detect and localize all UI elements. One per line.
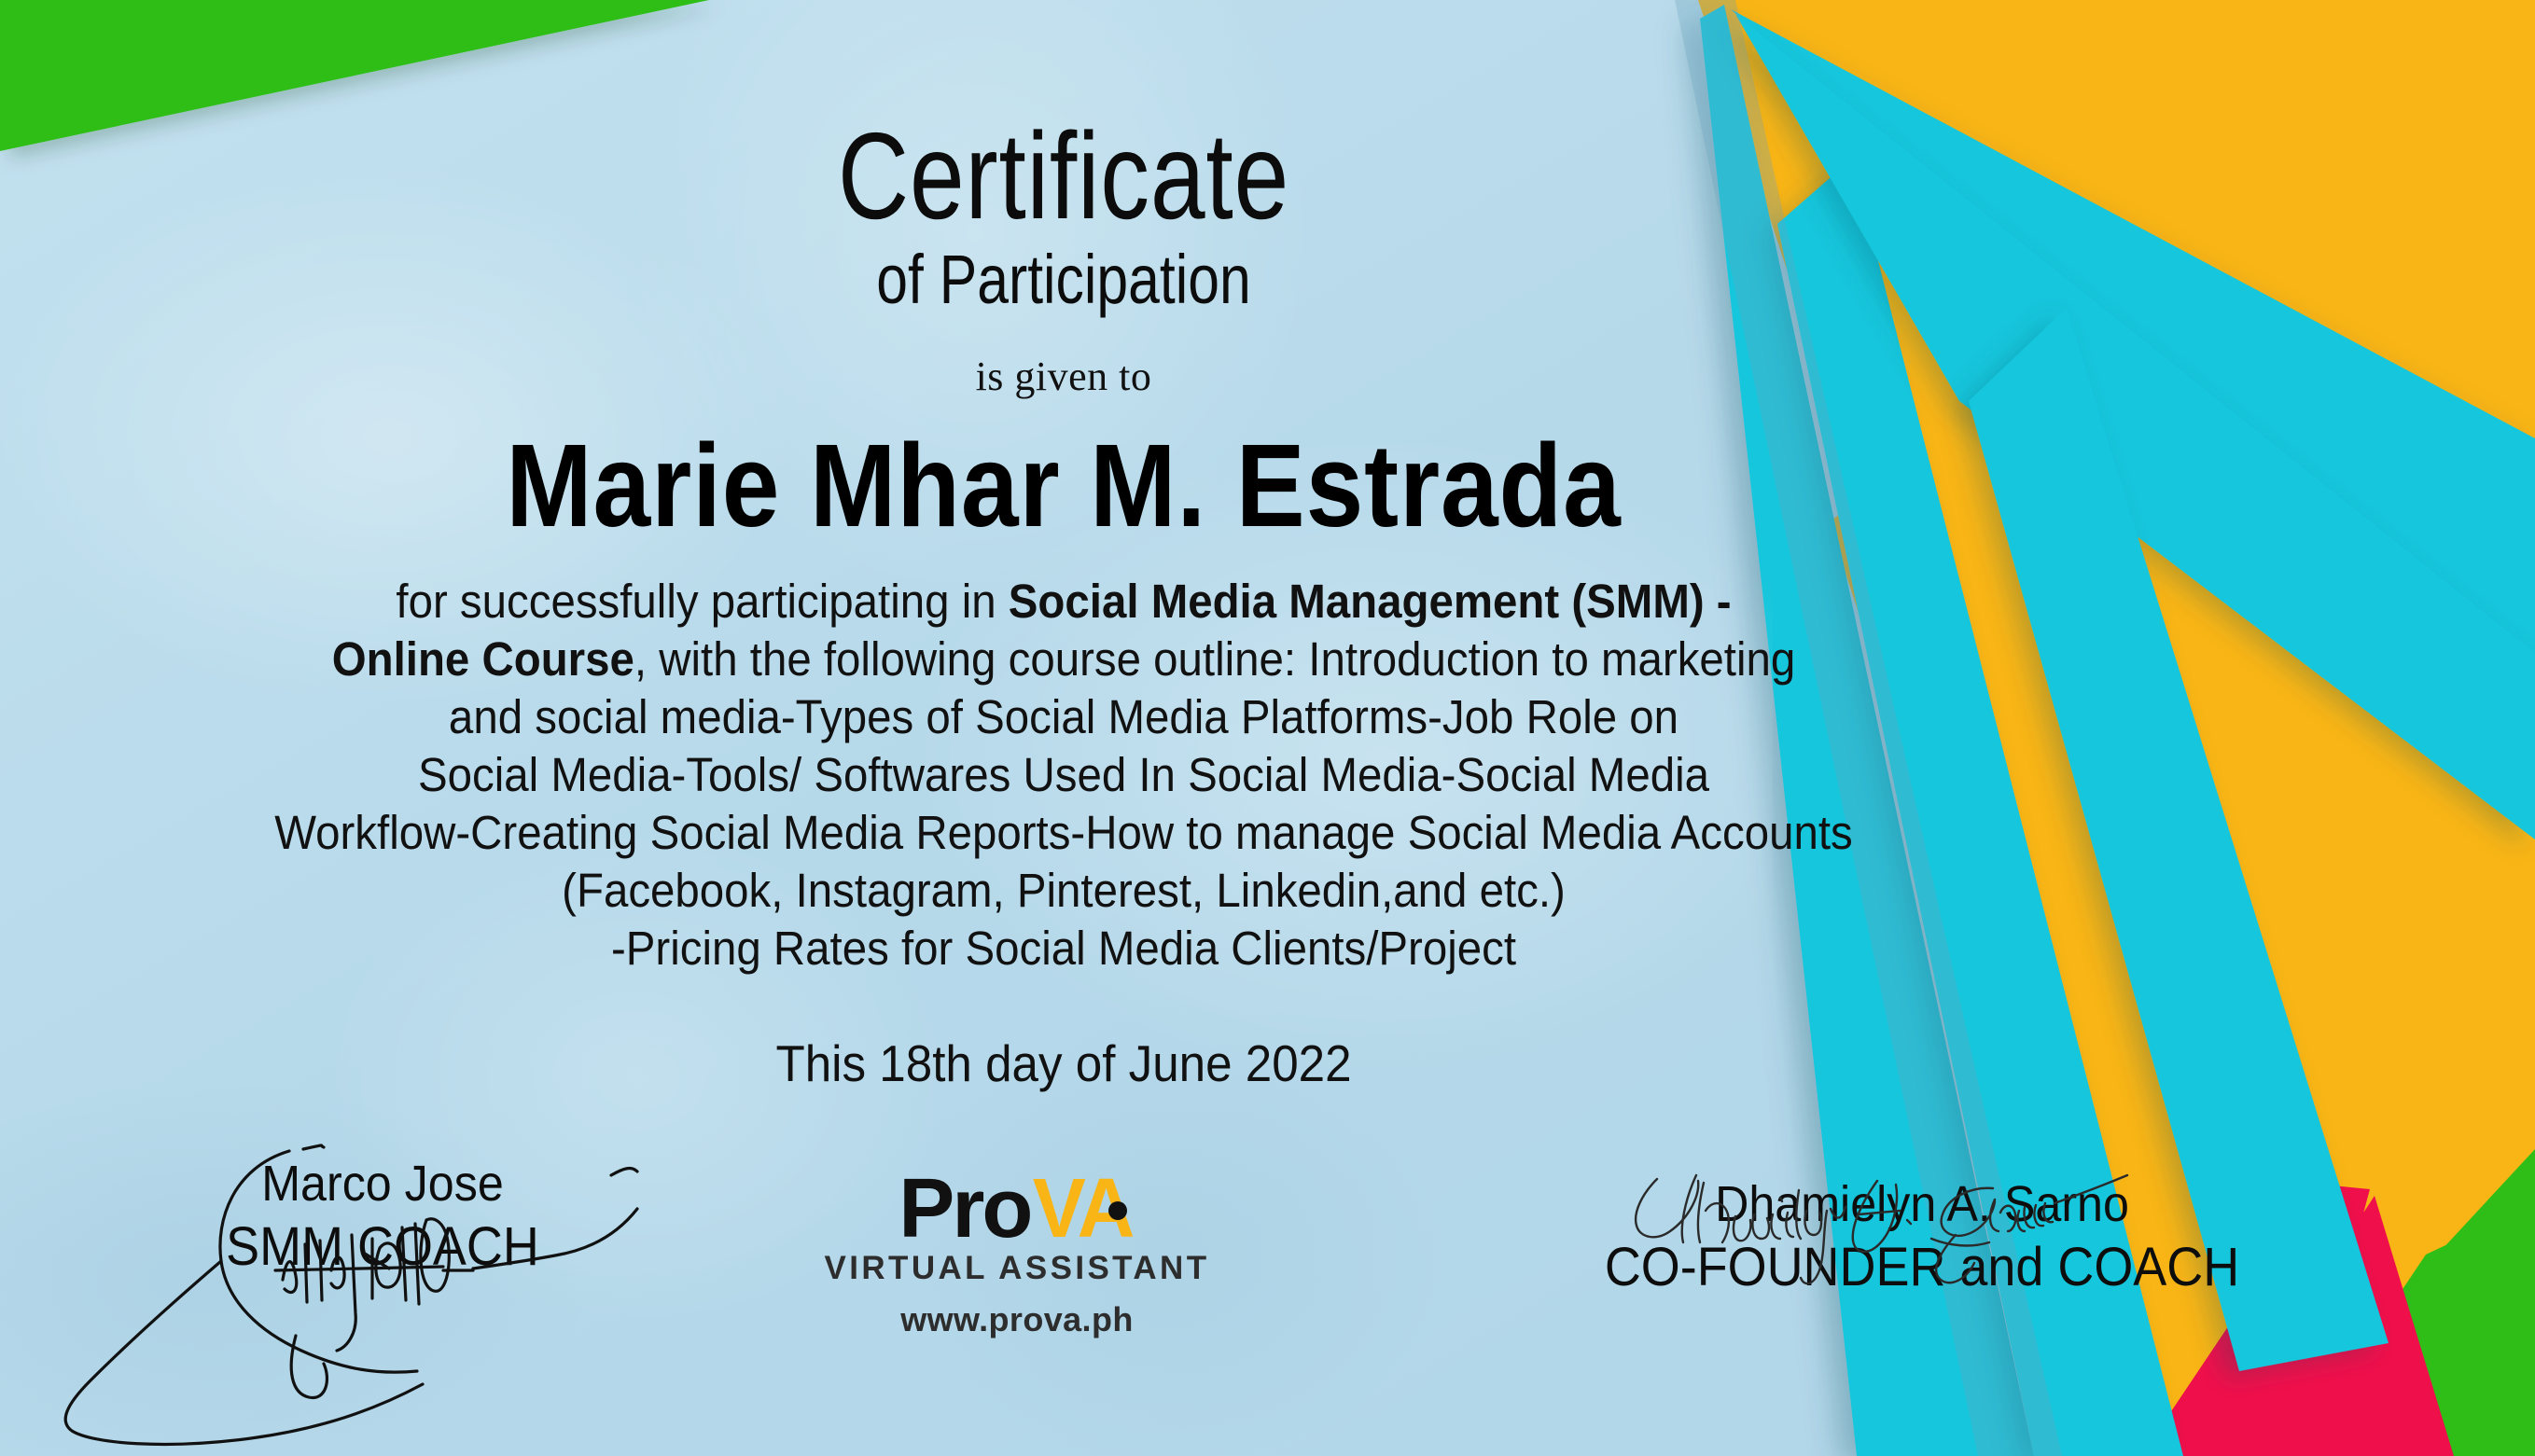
body-paragraph: for successfully participating in Social… — [0, 573, 2127, 978]
body-text: Workflow-Creating Social Media Reports-H… — [274, 806, 1853, 859]
signature-block-right: Dhamielyn A. Sarno CO-FOUNDER and COACH — [1530, 1173, 2314, 1300]
page-title: Certificate — [213, 114, 1915, 240]
recipient-name: Marie Mhar M. Estrada — [128, 418, 1999, 553]
body-text: for successfully participating in — [396, 575, 1008, 628]
body-text: Social Media-Tools/ Softwares Used In So… — [418, 748, 1709, 801]
body-line: (Facebook, Instagram, Pinterest, Linkedi… — [75, 862, 2053, 920]
title-block: Certificate of Participation — [0, 114, 2127, 317]
prova-logo: ProVA VIRTUAL ASSISTANT www.prova.ph — [774, 1164, 1260, 1339]
signatory-role-left: SMM COACH — [79, 1214, 687, 1280]
body-text: and social media-Types of Social Media P… — [449, 690, 1678, 743]
prova-word-pro: Pro — [898, 1162, 1030, 1255]
signatory-role-right: CO-FOUNDER and COACH — [1557, 1235, 2286, 1300]
prova-url: www.prova.ph — [774, 1300, 1260, 1339]
page-subtitle: of Participation — [191, 242, 1936, 317]
body-line: Online Course, with the following course… — [75, 631, 2053, 688]
body-line: and social media-Types of Social Media P… — [75, 688, 2053, 746]
body-text: , with the following course outline: Int… — [634, 632, 1795, 686]
body-line: Social Media-Tools/ Softwares Used In So… — [75, 746, 2053, 804]
prova-wordmark: ProVA — [898, 1164, 1135, 1254]
body-line: for successfully participating in Social… — [75, 573, 2053, 631]
body-text-emphasis: Online Course — [332, 632, 634, 686]
signatory-name-right: Dhamielyn A. Sarno — [1557, 1173, 2286, 1235]
date-line: This 18th day of June 2022 — [75, 1033, 2053, 1093]
signature-block-left: Marco Jose SMM COACH — [56, 1153, 709, 1280]
body-text: -Pricing Rates for Social Media Clients/… — [611, 922, 1516, 975]
signatory-name-left: Marco Jose — [79, 1153, 687, 1214]
body-line: Workflow-Creating Social Media Reports-H… — [75, 804, 2053, 862]
prova-dot-icon — [1108, 1201, 1127, 1220]
body-line: -Pricing Rates for Social Media Clients/… — [75, 920, 2053, 978]
given-to-label: is given to — [0, 353, 2127, 400]
prova-tagline: VIRTUAL ASSISTANT — [774, 1250, 1260, 1287]
certificate-canvas: Certificate of Participation is given to… — [0, 0, 2535, 1456]
body-text: (Facebook, Instagram, Pinterest, Linkedi… — [562, 864, 1566, 917]
body-text-emphasis: Social Media Management (SMM) - — [1009, 575, 1732, 628]
